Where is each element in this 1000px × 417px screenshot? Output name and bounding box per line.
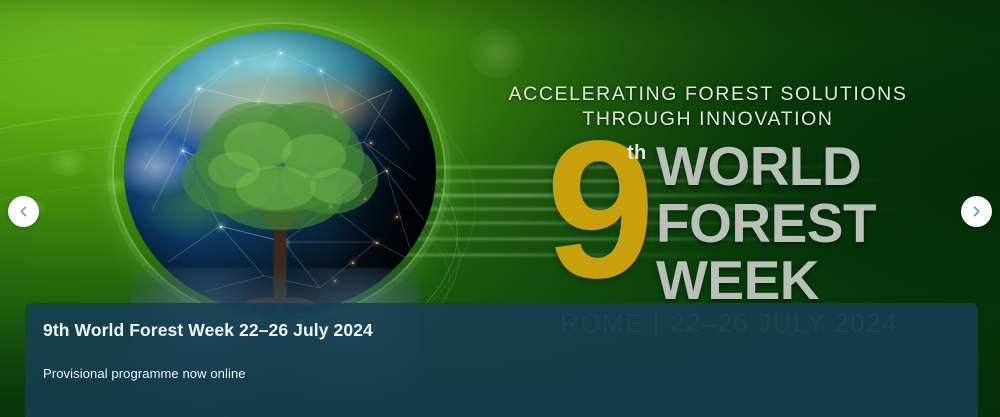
logo-word-week: WEEK bbox=[656, 252, 876, 309]
logo-wordmark: WORLD FOREST WEEK bbox=[656, 138, 876, 309]
chevron-right-icon bbox=[970, 205, 983, 218]
slide-caption-panel[interactable]: 9th World Forest Week 22–26 July 2024 Pr… bbox=[25, 303, 978, 417]
logo-word-world: WORLD bbox=[656, 138, 876, 195]
carousel-next-button[interactable] bbox=[961, 196, 992, 227]
caption-subtitle: Provisional programme now online bbox=[43, 365, 960, 383]
chevron-left-icon bbox=[17, 205, 30, 218]
hero-carousel[interactable]: ACCELERATING FOREST SOLUTIONS THROUGH IN… bbox=[0, 0, 1000, 417]
logo-word-forest: FOREST bbox=[656, 195, 876, 252]
carousel-prev-button[interactable] bbox=[8, 196, 39, 227]
caption-title: 9th World Forest Week 22–26 July 2024 bbox=[43, 317, 960, 343]
logo-ordinal-suffix: th bbox=[627, 142, 646, 165]
